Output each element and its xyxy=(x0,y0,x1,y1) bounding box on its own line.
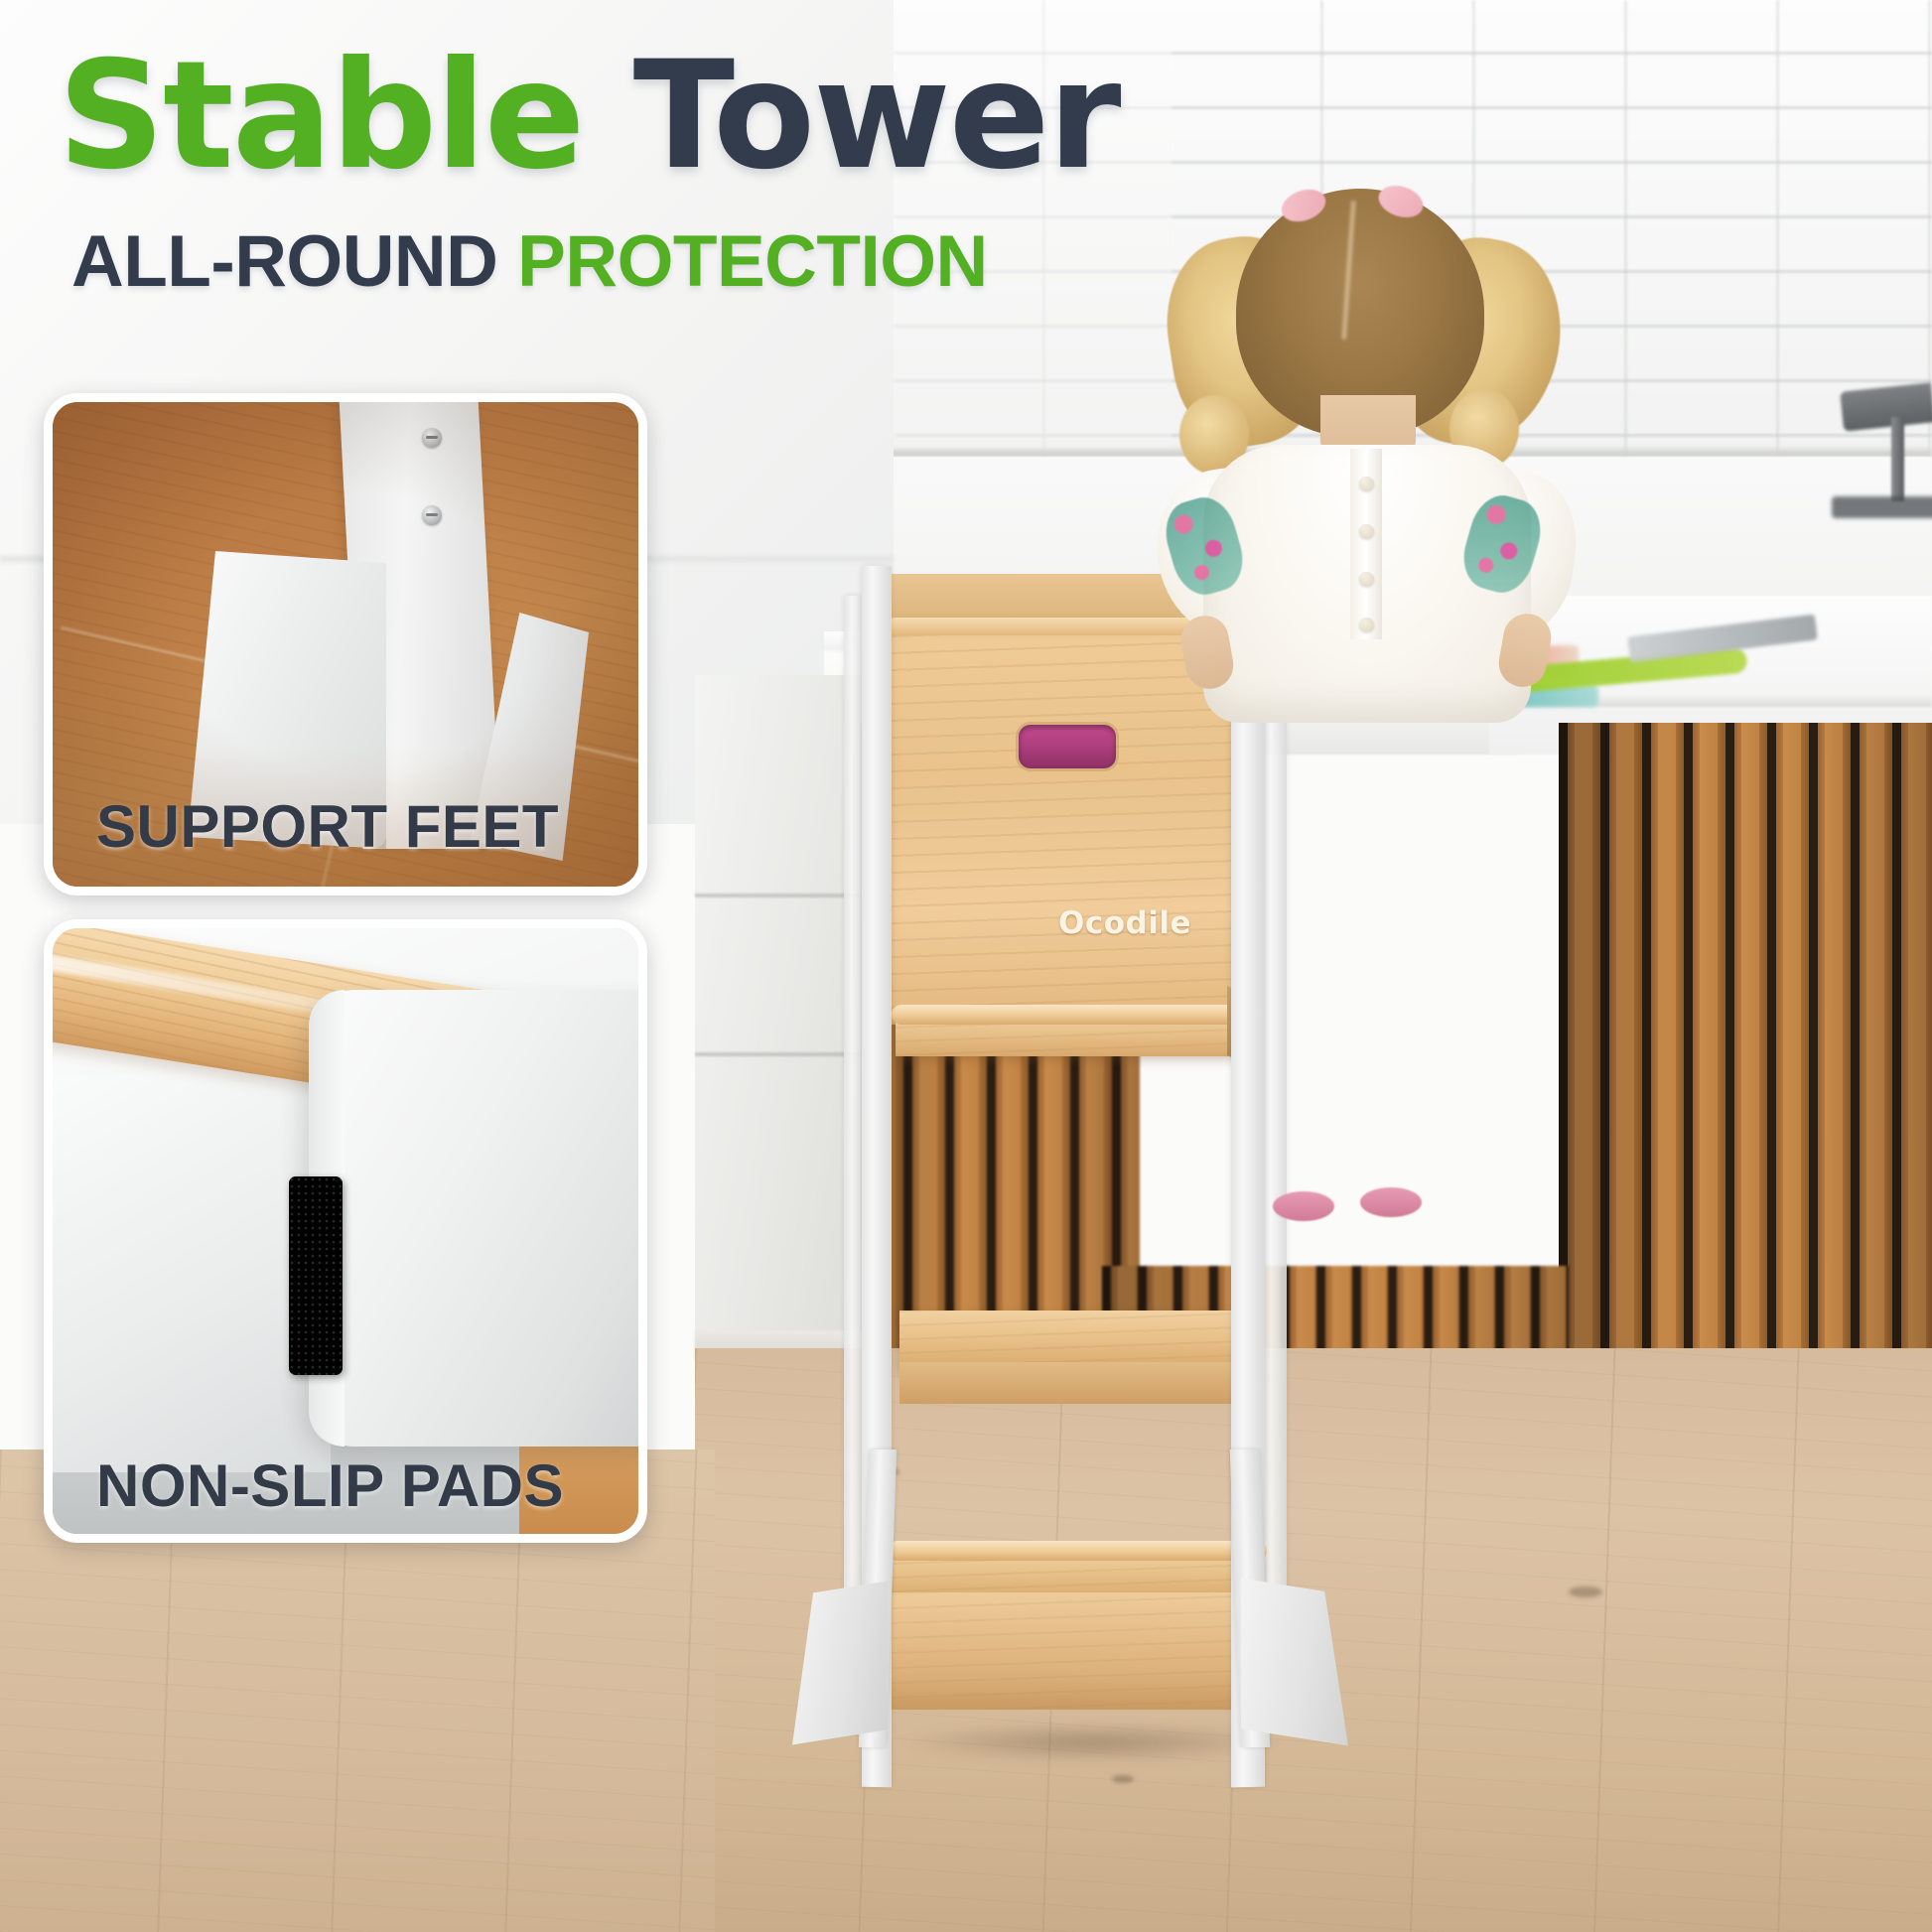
tower-middle-step xyxy=(899,1311,1247,1370)
tower-floor-shadow xyxy=(903,1723,1281,1762)
tower-side-panel-closeup xyxy=(44,1075,331,1472)
faucet-stem xyxy=(1891,417,1904,501)
headline: Stable Tower xyxy=(58,42,1119,191)
subheadline: ALL-ROUND PROTECTION xyxy=(71,220,988,303)
white-panel-closeup xyxy=(309,990,647,1447)
child-photo xyxy=(1152,179,1579,695)
learning-tower: Ocodile xyxy=(834,556,1549,1932)
tower-post-far-right xyxy=(1263,596,1287,1688)
headline-word-tower: Tower xyxy=(633,30,1120,203)
blouse-button xyxy=(1359,618,1374,632)
child-foot-right xyxy=(1360,1187,1422,1217)
faucet-base xyxy=(1832,496,1932,518)
subheadline-protection: PROTECTION xyxy=(517,221,988,302)
tower-bottom-riser xyxy=(892,1592,1261,1710)
tower-platform-nose xyxy=(892,1005,1249,1025)
subheadline-all-round: ALL-ROUND xyxy=(71,221,497,302)
slat-panel-right xyxy=(1559,723,1932,1438)
blouse-button xyxy=(1359,477,1374,491)
callout-card-support-feet[interactable]: SUPPORT FEET xyxy=(44,393,647,896)
product-marketing-image: Ocodile xyxy=(0,0,1932,1932)
brand-logo: Ocodile xyxy=(1058,905,1191,941)
non-slip-pad-texture xyxy=(289,1176,343,1375)
tower-middle-riser xyxy=(899,1362,1247,1404)
callout-card-non-slip-pads[interactable]: NON-SLIP PADS xyxy=(44,919,647,1543)
tower-support-foot-right xyxy=(1241,1578,1348,1745)
blouse-button xyxy=(1359,524,1374,539)
card-caption-non-slip-pads: NON-SLIP PADS xyxy=(53,1451,638,1534)
blouse-button xyxy=(1359,572,1374,587)
non-slip-pad xyxy=(289,1176,343,1375)
floor-knot xyxy=(1569,1587,1602,1597)
slat-panel-right-shade xyxy=(1559,723,1932,1438)
child-foot-left xyxy=(1273,1191,1334,1221)
card-caption-support-feet: SUPPORT FEET xyxy=(53,792,638,887)
tower-handle-cutout xyxy=(1019,725,1116,768)
headline-word-stable: Stable xyxy=(58,30,583,203)
tower-bottom-nose xyxy=(888,1541,1267,1561)
